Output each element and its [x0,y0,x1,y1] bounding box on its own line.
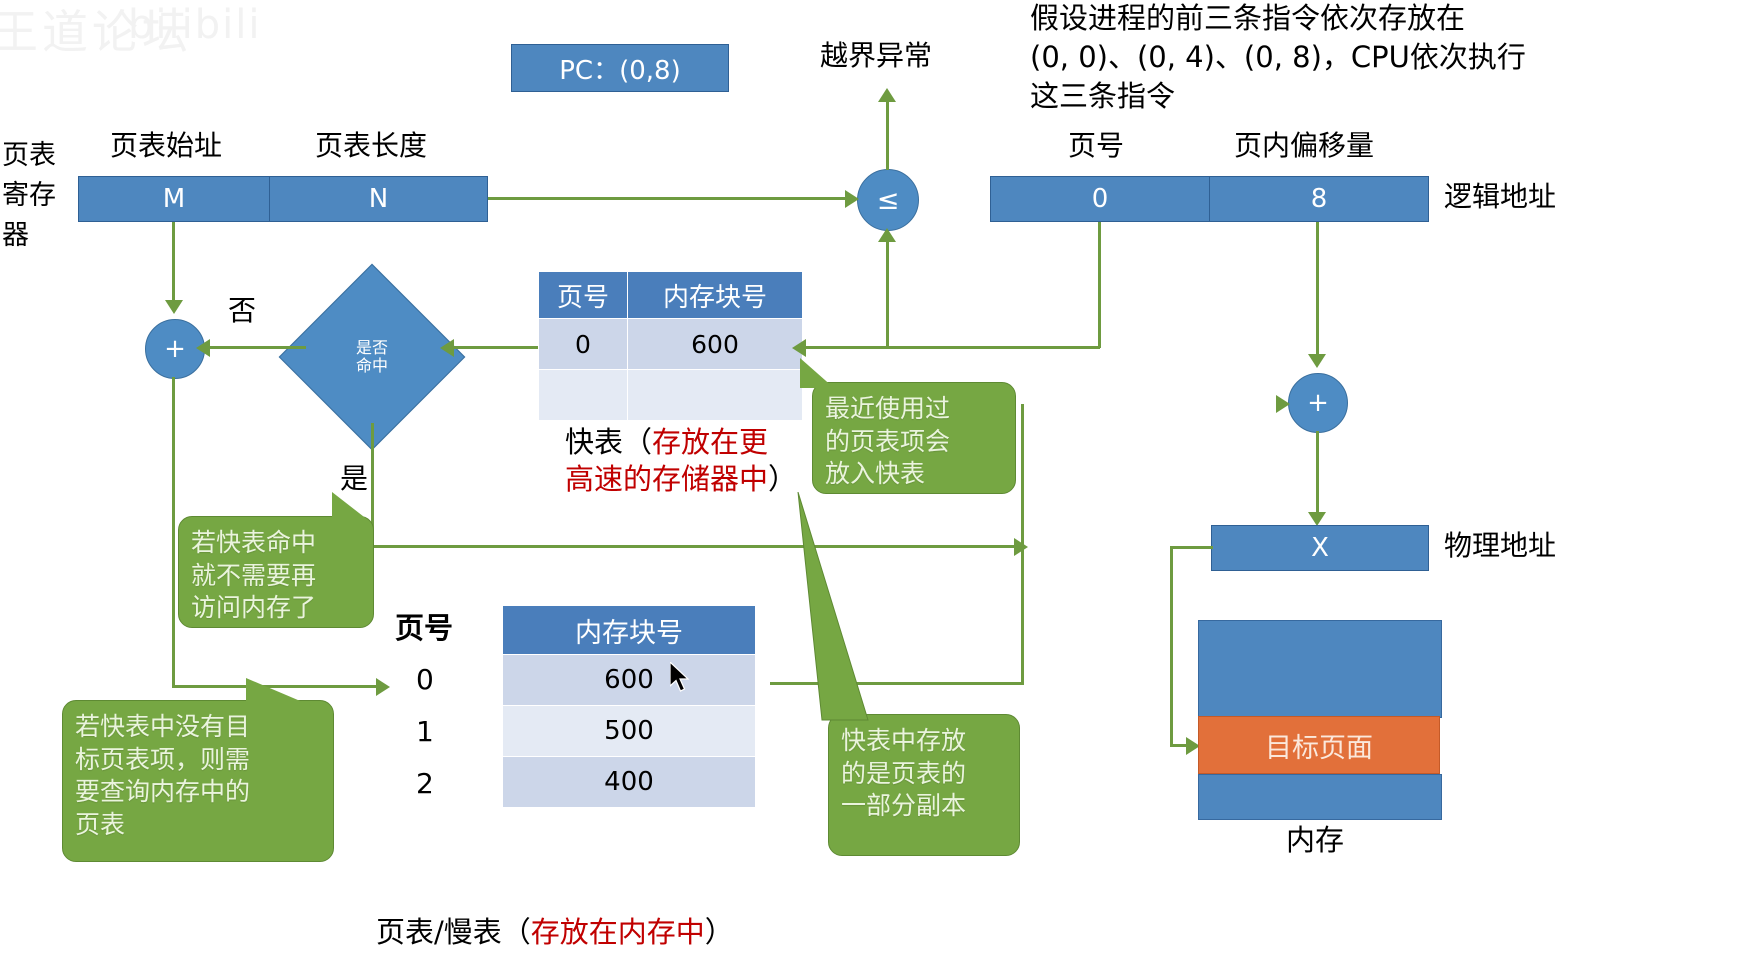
mouse-cursor [670,662,694,696]
arrow-tlb-to-decision [440,339,454,357]
line-adder-to-physical [1316,431,1319,519]
out-of-bounds-exception-label: 越界异常 [820,40,932,72]
line-physical-left [1170,546,1213,549]
register-cell-length: N [269,176,488,222]
arrow-adder-to-physical [1308,512,1326,526]
tlb-cell-block-number: 600 [628,319,803,370]
memory-target-page: 目标页面 [1198,716,1440,774]
callout-hit-line3: 访问内存了 [191,592,361,625]
tlb-header-page-number: 页号 [539,272,628,319]
page-table-cell-block-1: 500 [503,706,756,757]
callout-tlb-copy: 快表中存放 的是页表的 一部分副本 [828,714,1020,856]
callout-copy-line1: 快表中存放 [841,725,1007,758]
line-m-down-to-adder [172,222,175,306]
callout-recent-line1: 最近使用过 [825,393,1003,426]
logical-col2-header: 页内偏移量 [1234,130,1374,162]
diagram-canvas: 王道论坛 bilibili 假设进程的前三条指令依次存放在 (0, 0)、(0,… [0,0,1762,974]
register-col2-header: 页表长度 [315,130,427,162]
line-tlb-to-decision [450,346,538,349]
callout-tlb-miss-tail [246,678,312,706]
line-decision-to-adder [208,346,306,349]
arrow-exception-up [878,88,896,102]
callout-miss-line4: 页表 [75,809,321,842]
tlb-row-empty [539,370,803,421]
note-top-right-line3: 这三条指令 [1030,80,1175,113]
line-offset-down-to-adder [1316,222,1319,360]
memory-caption: 内存 [1286,824,1344,857]
callout-tlb-miss: 若快表中没有目 标页表项，则需 要查询内存中的 页表 [62,700,334,862]
logical-cell-offset: 8 [1209,176,1429,222]
page-table-caption: 页表/慢表（存放在内存中） [376,916,734,949]
line-page-number-up-to-compare [886,236,889,348]
callout-miss-line3: 要查询内存中的 [75,776,321,809]
callout-copy-line2: 的是页表的 [841,758,1007,791]
arrow-adder-to-page-table [376,678,390,696]
page-table-caption-black: 页表/慢表（ [376,915,531,949]
branch-label-no: 否 [228,295,256,327]
note-top-right-line2: (0, 0)、(0, 4)、(0, 8)，CPU依次执行 [1030,41,1526,74]
line-recent-right-down [1021,404,1024,684]
page-table-header-row: 内存块号 [503,606,756,655]
line-n-to-compare [488,197,853,200]
register-cell-start-address: M [78,176,270,222]
page-table-caption-red: 存放在内存中 [531,915,705,949]
line-compare-to-exception [886,100,889,170]
tlb-table: 页号 内存块号 0 600 [538,271,803,421]
callout-hit-line2: 就不需要再 [191,560,361,593]
callout-recent-line3: 放入快表 [825,458,1003,491]
register-side-label-line3: 器 [2,220,29,251]
page-table-row: 600 [503,655,756,706]
arrow-into-tlb-right [792,339,806,357]
page-table-cell-block-0: 600 [503,655,756,706]
tlb-caption-line1: 快表（存放在更 [565,426,768,459]
memory-block-bottom [1198,774,1442,820]
page-table-row-index-2: 2 [416,768,434,800]
tlb-header-row: 页号 内存块号 [539,272,803,319]
tlb-header-block-number: 内存块号 [628,272,803,319]
page-table-caption-close: ） [705,915,734,949]
arrow-m-to-adder [165,300,183,314]
page-table-row: 400 [503,757,756,808]
line-adder-down [172,377,175,687]
page-table-row: 500 [503,706,756,757]
page-table-cell-block-2: 400 [503,757,756,808]
callout-recent-line2: 的页表项会 [825,426,1003,459]
page-table: 内存块号 600 500 400 [502,605,756,808]
tlb-caption-black-1: 快表（ [565,425,652,459]
physical-address-box: X [1211,525,1429,571]
page-table-header-block-number: 内存块号 [503,606,756,655]
tlb-caption-black-2: ） [768,462,797,496]
logical-col1-header: 页号 [1068,130,1124,162]
tlb-cell-page-number: 0 [539,319,628,370]
watermark-bilibili: bilibili [128,2,261,48]
callout-tlb-copy-pointer [760,492,960,722]
callout-tlb-hit: 若快表命中 就不需要再 访问内存了 [178,516,374,628]
arrow-decision-to-adder [196,339,210,357]
line-page-number-from-logical [1098,222,1101,348]
memory-block-top [1198,620,1442,718]
branch-label-yes: 是 [340,463,368,495]
callout-recent-entries: 最近使用过 的页表项会 放入快表 [812,382,1016,494]
callout-miss-line1: 若快表中没有目 [75,711,321,744]
page-table-row-index-1: 1 [416,716,434,748]
register-col1-header: 页表始址 [110,130,222,162]
compare-node: ≤ [857,169,919,231]
callout-miss-line2: 标页表项，则需 [75,744,321,777]
callout-tlb-hit-tail [332,492,368,520]
page-table-side-header: 页号 [395,612,453,645]
logical-address-side-label: 逻辑地址 [1444,181,1556,213]
logical-cell-page-number: 0 [990,176,1210,222]
line-physical-down [1170,546,1173,746]
page-table-row-index-0: 0 [416,664,434,696]
tlb-cell-empty-1 [539,370,628,421]
decision-hit-or-not: 是否 命中 [306,291,438,423]
tlb-caption-red-1: 存放在更 [652,425,768,459]
tlb-caption-red-2: 高速的存储器中 [565,462,768,496]
note-top-right-line1: 假设进程的前三条指令依次存放在 [1030,2,1465,35]
register-side-label-line1: 页表 [2,140,56,171]
physical-address-side-label: 物理地址 [1444,530,1556,562]
line-tlb-to-right [800,346,1100,349]
arrow-into-compare-bottom [878,228,896,242]
callout-hit-line1: 若快表命中 [191,527,361,560]
tlb-row: 0 600 [539,319,803,370]
callout-copy-line3: 一部分副本 [841,790,1007,823]
arrow-offset-to-adder [1308,354,1326,368]
register-side-label-line2: 寄存 [2,180,56,211]
pc-box: PC：(0,8) [511,44,729,92]
arrow-n-to-compare [845,190,859,208]
arrow-into-adder-right [1276,395,1290,413]
callout-recent-tail [800,358,834,388]
tlb-cell-empty-2 [628,370,803,421]
adder-right: + [1288,373,1348,433]
